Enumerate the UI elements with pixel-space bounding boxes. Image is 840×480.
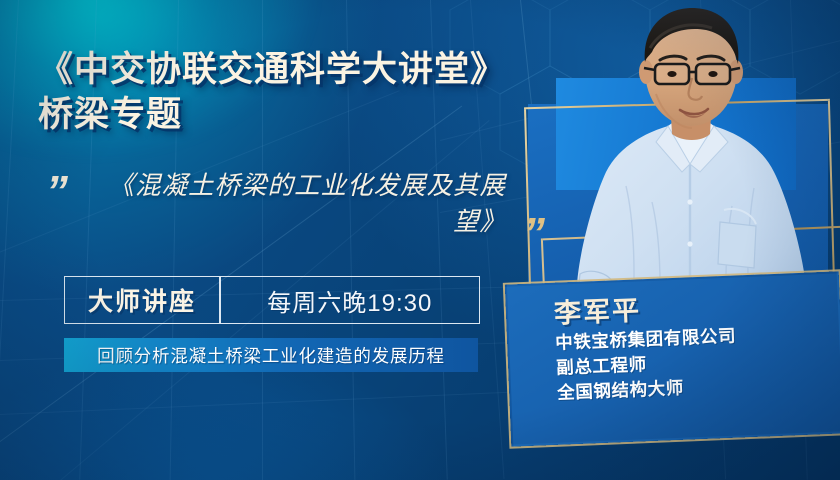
poster-title-line-1: 《中交协联交通科学大讲堂》: [38, 48, 508, 93]
lecture-quote-text: 《混凝土桥梁的工业化发展及其展望》: [88, 168, 506, 240]
lecture-quote-block: ” 《混凝土桥梁的工业化发展及其展望》 ”: [44, 168, 524, 268]
lecture-schedule-box: 大师讲座 每周六晚19:30: [64, 276, 480, 324]
promo-poster: 李军平 中铁宝桥集团有限公司 副总工程师 全国钢结构大师 《中交协联交通科学大讲…: [0, 0, 840, 480]
speaker-info-card: 李军平 中铁宝桥集团有限公司 副总工程师 全国钢结构大师: [505, 271, 840, 446]
poster-title-line-2: 桥梁专题: [38, 93, 508, 138]
poster-title: 《中交协联交通科学大讲堂》 桥梁专题: [38, 48, 508, 138]
lecture-schedule: 每周六晚19:30: [221, 283, 479, 318]
quote-close-mark: ”: [523, 212, 542, 256]
tagline-banner: 回顾分析混凝土桥梁工业化建造的发展历程: [64, 338, 478, 372]
lecture-label: 大师讲座: [65, 282, 219, 318]
quote-open-mark: ”: [46, 170, 65, 214]
